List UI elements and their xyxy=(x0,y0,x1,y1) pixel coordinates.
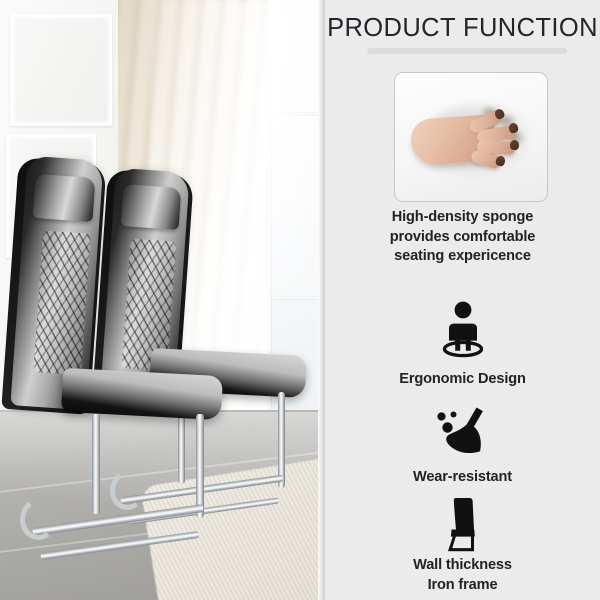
hand-pressing-foam-photo xyxy=(394,72,548,202)
feature-label-line-1: Wall thickness xyxy=(329,556,596,576)
hero-caption-line-2: provides comfortable xyxy=(329,228,596,248)
feature-label-wear-resistant: Wear-resistant xyxy=(329,468,596,488)
page-title: PRODUCT FUNCTION xyxy=(325,14,600,43)
hero-caption: High-density sponge provides comfortable… xyxy=(329,208,596,267)
feature-content-panel: PRODUCT FUNCTION High-density sponge pro… xyxy=(325,0,600,600)
chair-leg-rear xyxy=(196,414,204,518)
chair-leg-rear xyxy=(278,392,285,488)
chair-seat xyxy=(61,368,223,420)
wall-panel-moulding xyxy=(10,14,112,126)
chair-silhouette-icon xyxy=(325,496,600,559)
product-photo-panel xyxy=(0,0,320,600)
hero-caption-line-3: seating expericence xyxy=(329,247,596,267)
chair-quilt-pattern xyxy=(33,230,91,375)
product-function-infographic: PRODUCT FUNCTION High-density sponge pro… xyxy=(0,0,600,600)
feature-label-wall-thickness-iron-frame: Wall thickness Iron frame xyxy=(329,556,596,595)
person-in-circle-icon xyxy=(325,300,600,363)
chair-headrest xyxy=(33,174,96,222)
feature-label-ergonomic-design: Ergonomic Design xyxy=(329,370,596,390)
chair-headrest xyxy=(121,184,182,230)
chair-leg-front xyxy=(92,414,100,514)
broom-dust-icon xyxy=(325,404,600,465)
feature-label-line-2: Iron frame xyxy=(329,576,596,596)
hero-caption-line-1: High-density sponge xyxy=(329,208,596,228)
title-underline-rule xyxy=(367,48,567,54)
